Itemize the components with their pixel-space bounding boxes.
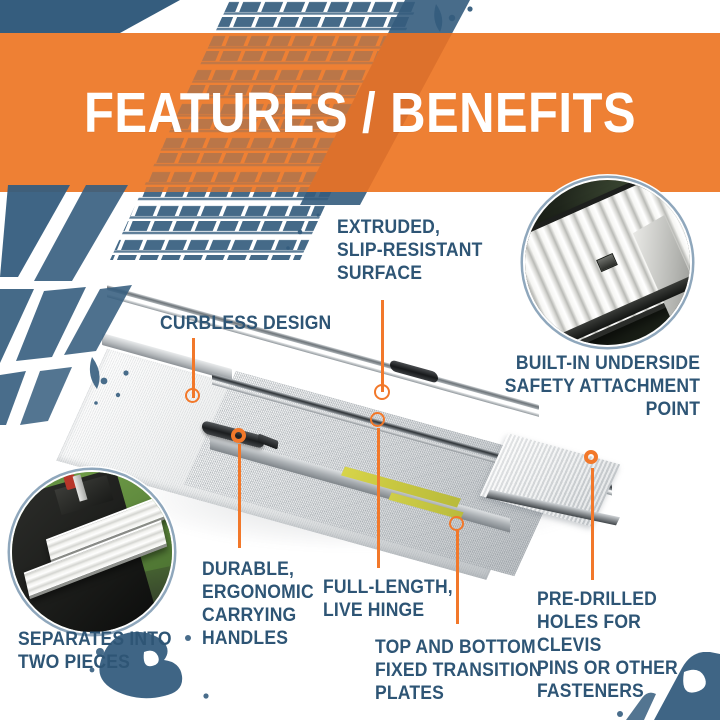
label-curbless-design: CURBLESS DESIGN — [160, 312, 331, 335]
label-durable-ergonomic-carrying-handles: DURABLE, ERGONOMIC CARRYING HANDLES — [202, 558, 314, 650]
callout-marker-extruded-surface — [374, 384, 390, 400]
callout-line-extruded-surface — [381, 300, 384, 392]
label-built-in-underside-safety-attachment-point: BUILT-IN UNDERSIDE SAFETY ATTACHMENT POI… — [505, 352, 700, 421]
callout-marker-transition-plates — [449, 516, 464, 531]
callout-marker-pre-drilled-holes — [584, 450, 598, 464]
callout-line-live-hinge — [377, 428, 380, 568]
callout-line-pre-drilled-holes — [591, 468, 594, 580]
ramp-underside-photo — [525, 180, 690, 345]
callout-marker-carrying-handles — [231, 428, 246, 443]
label-pre-drilled-holes-for-clevis-pins: PRE-DRILLED HOLES FOR CLEVIS PINS OR OTH… — [537, 588, 702, 703]
callout-marker-curbless-design — [185, 388, 200, 403]
infographic-canvas: FEATURES / BENEFITS — [0, 0, 720, 720]
callout-line-carrying-handles — [238, 444, 241, 548]
label-full-length-live-hinge: FULL-LENGTH, LIVE HINGE — [323, 576, 453, 622]
label-separates-into-two-pieces: SEPARATES INTO TWO PIECES — [18, 628, 172, 674]
callout-line-transition-plates — [456, 530, 459, 624]
label-top-and-bottom-fixed-transition-plates: TOP AND BOTTOM FIXED TRANSITION PLATES — [375, 636, 542, 705]
page-title: FEATURES / BENEFITS — [50, 33, 669, 192]
callout-marker-live-hinge — [370, 412, 385, 427]
label-extruded-slip-resistant-surface: EXTRUDED, SLIP-RESISTANT SURFACE — [337, 216, 483, 285]
ramp-separated-pieces-photo — [12, 472, 172, 632]
